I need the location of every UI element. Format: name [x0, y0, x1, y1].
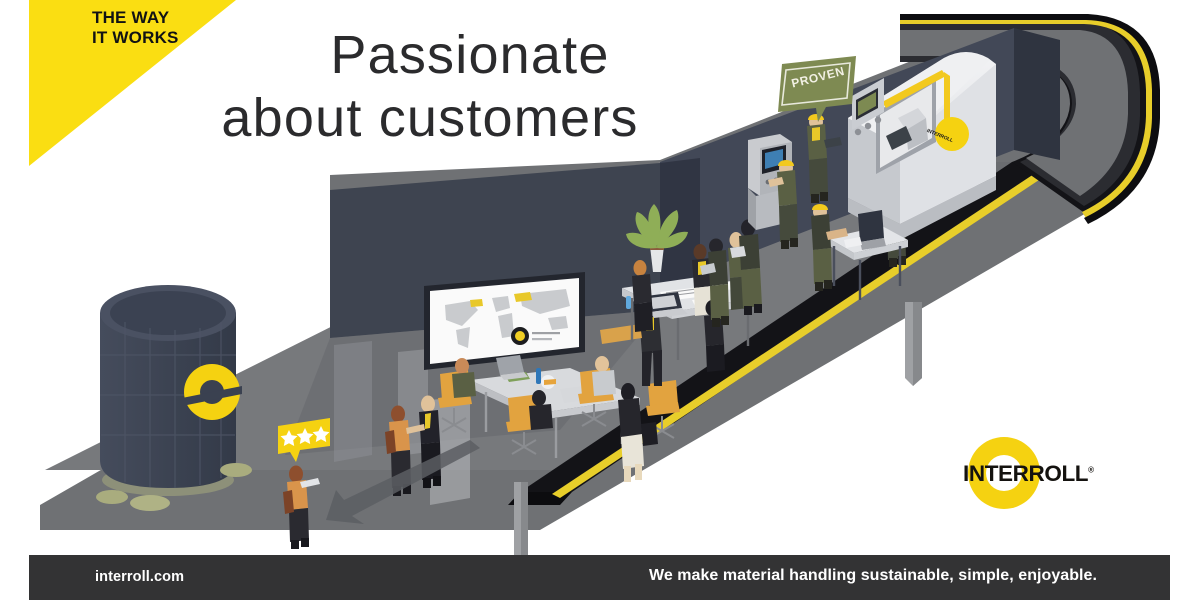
headline-line-1: Passionate [230, 24, 710, 87]
interroll-logo: INTERROLL® [963, 437, 1113, 509]
footer-bar: interroll.com We make material handling … [29, 555, 1170, 600]
storage-tank [96, 285, 252, 511]
logo-wordmark-text: INTERROLL [963, 461, 1088, 486]
registered-mark: ® [1088, 466, 1094, 475]
footer-url[interactable]: interroll.com [95, 569, 184, 585]
poster-canvas: THE WAY IT WORKS Passionate about custom… [0, 0, 1200, 600]
footer-claim: We make material handling sustainable, s… [649, 567, 1097, 585]
headline-line-2: about customers [150, 87, 710, 150]
page-title: Passionate about customers [150, 24, 710, 149]
logo-wordmark: INTERROLL® [963, 461, 1113, 487]
